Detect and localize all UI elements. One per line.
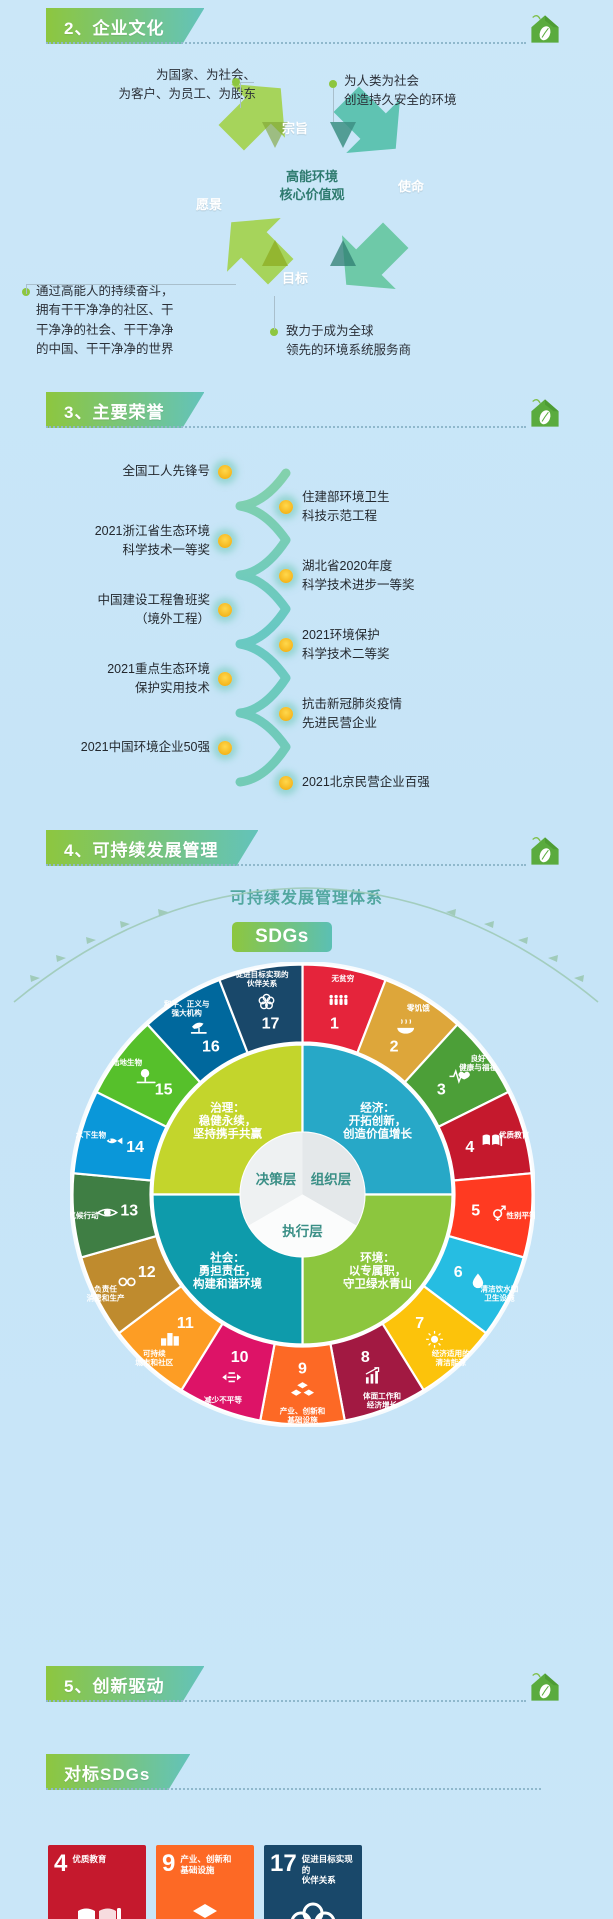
arrow-label-mission: 使命 bbox=[398, 176, 424, 195]
house-leaf-icon bbox=[528, 396, 562, 430]
section-sustainable-development: 4、可持续发展管理 可持续发展管理体系 bbox=[0, 822, 613, 1612]
core-line-2: 核心价值观 bbox=[252, 186, 372, 204]
svg-text:执行层: 执行层 bbox=[282, 1223, 323, 1239]
infographic-page: 2、企业文化 bbox=[0, 0, 613, 1919]
center-three-layers: 决策层 组织层 执行层 bbox=[240, 1133, 364, 1257]
honors-zigzag-path bbox=[225, 468, 295, 798]
house-leaf-icon bbox=[528, 834, 562, 868]
section3-header: 3、主要荣誉 bbox=[46, 392, 204, 428]
sdg-card-number: 17 bbox=[270, 1852, 297, 1876]
note-vision-leader-line bbox=[26, 284, 236, 294]
cubes-icon bbox=[156, 1901, 254, 1919]
sdg-card-17[interactable]: 17促进目标实现的伙伴关系 bbox=[264, 1845, 362, 1919]
honor-label-right-4: 抗击新冠肺炎疫情 先进民营企业 bbox=[302, 695, 532, 733]
core-line-1: 高能环境 bbox=[252, 168, 372, 186]
sdg-number-2: 2 bbox=[390, 1039, 399, 1056]
honor-text: 住建部环境卫生 bbox=[302, 488, 532, 507]
section2-dotted-rule bbox=[46, 42, 526, 44]
note-goal-line-2: 领先的环境系统服务商 bbox=[286, 341, 546, 360]
svg-text:组织层: 组织层 bbox=[311, 1171, 352, 1187]
sdg-number-7: 7 bbox=[415, 1315, 424, 1332]
honor-node-1 bbox=[218, 465, 232, 479]
note-purpose: 为国家、为社会、 为客户、为员工、为股东 bbox=[26, 66, 256, 105]
svg-text:决策层: 决策层 bbox=[256, 1171, 297, 1187]
honor-node-7 bbox=[218, 672, 232, 686]
honor-text: 2021重点生态环境 bbox=[20, 660, 210, 679]
note-mission-line-2: 创造持久安全的环境 bbox=[344, 91, 584, 110]
honor-text: 2021中国环境企业50强 bbox=[10, 738, 210, 757]
honor-text: 2021浙江省生态环境 bbox=[20, 522, 210, 541]
honor-label-left-4: 2021重点生态环境 保护实用技术 bbox=[20, 660, 210, 698]
honor-text: 科学技术二等奖 bbox=[302, 645, 532, 664]
section4-banner-label: 4、可持续发展管理 bbox=[46, 830, 258, 866]
honor-label-left-1: 全国工人先锋号 bbox=[20, 462, 210, 481]
section2-header: 2、企业文化 bbox=[46, 8, 204, 44]
honor-text: 中国建设工程鲁班奖 bbox=[20, 591, 210, 610]
sdg-number-17: 17 bbox=[262, 1015, 280, 1032]
section2-banner-label: 2、企业文化 bbox=[46, 8, 204, 44]
sdg-number-10: 10 bbox=[231, 1349, 249, 1366]
house-leaf-icon bbox=[528, 12, 562, 46]
sdg-number-11: 11 bbox=[177, 1315, 194, 1332]
sdg-number-6: 6 bbox=[454, 1264, 463, 1281]
honor-label-right-1: 住建部环境卫生 科技示范工程 bbox=[302, 488, 532, 526]
sdgs-chip-label: SDGs bbox=[232, 922, 332, 952]
honor-label-left-3: 中国建设工程鲁班奖 （境外工程） bbox=[20, 591, 210, 629]
sdg-number-9: 9 bbox=[298, 1361, 307, 1378]
honor-label-right-5: 2021北京民营企业百强 bbox=[302, 773, 552, 792]
note-purpose-leader bbox=[240, 82, 254, 108]
note-vision-line-2: 拥有干干净净的社区、干 bbox=[36, 301, 286, 320]
sdg-number-14: 14 bbox=[126, 1139, 144, 1156]
honor-text: 2021环境保护 bbox=[302, 626, 532, 645]
book-icon bbox=[48, 1901, 146, 1919]
section-innovation-driven: 5、创新驱动 对标SDGs 4优质教育9产业、创新和基础设施17促进目标实现的伙… bbox=[0, 1620, 613, 1919]
section5-sdg-dotted-rule bbox=[46, 1788, 541, 1790]
sdg-label-2: 零饥饿 bbox=[407, 1002, 430, 1012]
sdg-alignment-banner-label: 对标SDGs bbox=[46, 1754, 190, 1790]
note-vision-line-4: 的中国、干干净净的世界 bbox=[36, 340, 286, 359]
note-vision-line-3: 干净净的社会、干干净净 bbox=[36, 321, 286, 340]
sdg-label-7: 经济适用的清洁能源 bbox=[432, 1348, 470, 1367]
sdg-label-1: 无贫穷 bbox=[331, 973, 355, 983]
sdg-label-8: 体面工作和经济增长 bbox=[363, 1391, 401, 1410]
honor-text: 湖北省2020年度 bbox=[302, 557, 532, 576]
sdg-card-number: 9 bbox=[162, 1852, 175, 1876]
honor-text: 科学技术一等奖 bbox=[20, 541, 210, 560]
sdg-number-8: 8 bbox=[361, 1349, 370, 1366]
honor-node-6 bbox=[279, 638, 293, 652]
honor-text: 科学技术进步一等奖 bbox=[302, 576, 532, 595]
honor-text: 抗击新冠肺炎疫情 bbox=[302, 695, 532, 714]
sdg-card-number: 4 bbox=[54, 1852, 67, 1876]
honor-node-10 bbox=[279, 776, 293, 790]
sdg-alignment-cards: 4优质教育9产业、创新和基础设施17促进目标实现的伙伴关系 bbox=[48, 1845, 362, 1919]
honor-text: 2021北京民营企业百强 bbox=[302, 773, 552, 792]
section5-dotted-rule bbox=[46, 1700, 526, 1702]
honor-text: 全国工人先锋号 bbox=[20, 462, 210, 481]
sdg-number-12: 12 bbox=[138, 1264, 156, 1281]
note-goal-leader bbox=[274, 296, 275, 330]
sdg-label-4: 优质教育 bbox=[499, 1129, 530, 1139]
honor-text: 保护实用技术 bbox=[20, 679, 210, 698]
note-mission-dot bbox=[329, 80, 337, 88]
note-purpose-line-1: 为国家、为社会、 bbox=[26, 66, 256, 85]
honor-node-5 bbox=[218, 603, 232, 617]
honor-node-4 bbox=[279, 569, 293, 583]
sdg-number-1: 1 bbox=[330, 1015, 339, 1032]
section3-banner-label: 3、主要荣誉 bbox=[46, 392, 204, 428]
sdg-number-3: 3 bbox=[437, 1082, 446, 1099]
section5-banner-label: 5、创新驱动 bbox=[46, 1666, 204, 1702]
honor-text: 先进民营企业 bbox=[302, 714, 532, 733]
sdg-number-16: 16 bbox=[202, 1039, 220, 1056]
section-corporate-culture: 2、企业文化 bbox=[0, 0, 613, 380]
sdg-label-15: 陆地生物 bbox=[112, 1057, 143, 1067]
sdg-label-13: 气候行动 bbox=[70, 1210, 99, 1220]
arrow-label-purpose: 宗旨 bbox=[282, 118, 308, 137]
section3-dotted-rule bbox=[46, 426, 526, 428]
note-goal: 致力于成为全球 领先的环境系统服务商 bbox=[286, 322, 546, 361]
sdg-number-15: 15 bbox=[155, 1082, 173, 1099]
honor-label-left-2: 2021浙江省生态环境 科学技术一等奖 bbox=[20, 522, 210, 560]
sdg-number-13: 13 bbox=[120, 1203, 138, 1220]
sdg-label-10: 减少不平等 bbox=[204, 1395, 242, 1405]
honor-label-right-2: 湖北省2020年度 科学技术进步一等奖 bbox=[302, 557, 532, 595]
honor-label-left-5: 2021中国环境企业50强 bbox=[10, 738, 210, 757]
honor-node-8 bbox=[279, 707, 293, 721]
sdg-number-4: 4 bbox=[465, 1139, 474, 1156]
sdg-card-4[interactable]: 4优质教育 bbox=[48, 1845, 146, 1919]
note-purpose-line-2: 为客户、为员工、为股东 bbox=[26, 85, 256, 104]
honor-text: （境外工程） bbox=[20, 610, 210, 629]
note-mission: 为人类为社会 创造持久安全的环境 bbox=[344, 72, 584, 111]
sdg-wheel: 1无贫穷2零饥饿3良好健康与福祉4优质教育5性别平等6清洁饮水和卫生设施7经济适… bbox=[70, 962, 535, 1427]
sdg-number-5: 5 bbox=[471, 1203, 480, 1220]
section5-sdg-header: 对标SDGs bbox=[46, 1754, 190, 1790]
honor-node-2 bbox=[279, 500, 293, 514]
note-mission-line-1: 为人类为社会 bbox=[344, 72, 584, 91]
sdg-label-6: 清洁饮水和卫生设施 bbox=[480, 1284, 518, 1303]
note-goal-line-1: 致力于成为全球 bbox=[286, 322, 546, 341]
sdg-label-14: 水下生物 bbox=[76, 1129, 107, 1139]
core-values-text: 高能环境 核心价值观 bbox=[252, 168, 372, 203]
section4-dotted-rule bbox=[46, 864, 526, 866]
section5-header: 5、创新驱动 bbox=[46, 1666, 204, 1702]
circles-icon bbox=[264, 1901, 362, 1919]
section4-header: 4、可持续发展管理 bbox=[46, 830, 258, 866]
sdg-label-5: 性别平等 bbox=[506, 1210, 535, 1220]
section-main-honors: 3、主要荣誉 bbox=[0, 384, 613, 814]
honor-node-9 bbox=[218, 741, 232, 755]
honor-label-right-3: 2021环境保护 科学技术二等奖 bbox=[302, 626, 532, 664]
note-mission-leader bbox=[333, 88, 334, 122]
house-leaf-icon bbox=[528, 1670, 562, 1704]
arrow-label-vision: 愿景 bbox=[196, 194, 222, 213]
honor-text: 科技示范工程 bbox=[302, 507, 532, 526]
sdg-card-9[interactable]: 9产业、创新和基础设施 bbox=[156, 1845, 254, 1919]
honor-node-3 bbox=[218, 534, 232, 548]
sun-icon bbox=[426, 1331, 443, 1348]
note-purpose-dot bbox=[232, 78, 240, 86]
